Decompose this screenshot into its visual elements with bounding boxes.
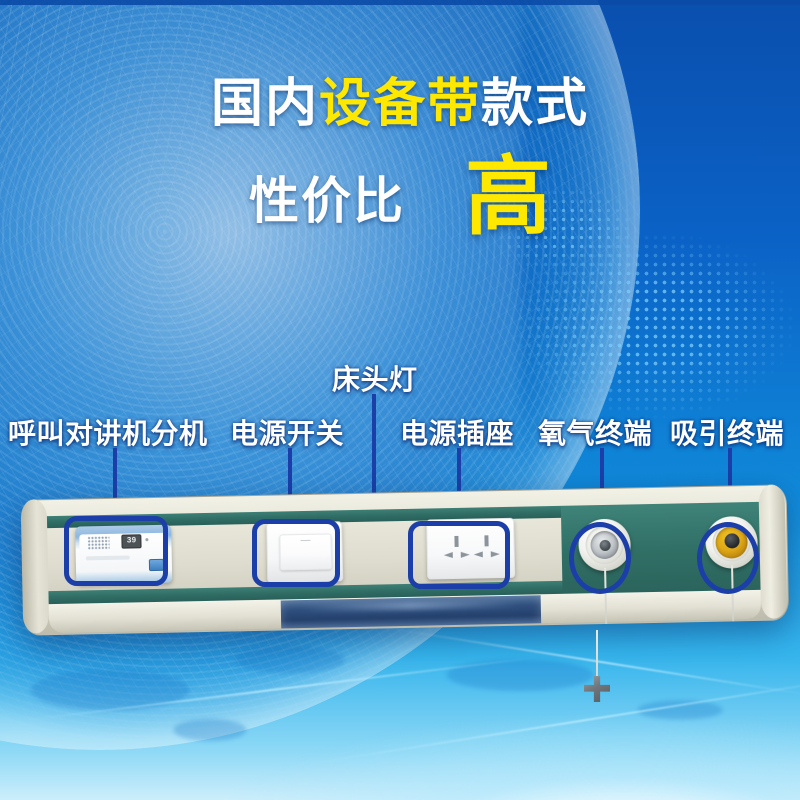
highlight-socket (408, 521, 510, 589)
panel-end-cap-right (758, 484, 787, 618)
callout-label-oxygen: 氧气终端 (538, 412, 652, 452)
headline-line-1: 国内设备带款式 (0, 78, 800, 130)
callout-label-switch: 电源开关 (230, 412, 344, 452)
headline-big-word: 高 (465, 156, 551, 239)
headline-part-1: 国内 (211, 75, 319, 133)
poster-canvas: 国内设备带款式 性价比 高 呼叫对讲机分机 电源开关 床头灯 电源插座 氧气终端… (0, 0, 800, 800)
headline-line-2: 性价比 高 (0, 156, 800, 239)
top-edge-bar (0, 0, 800, 5)
headline-highlight: 设备带 (319, 75, 481, 133)
headline-part-2: 款式 (481, 75, 589, 133)
highlight-oxygen (569, 522, 631, 594)
bed-lamp[interactable] (281, 595, 542, 628)
callout-label-bedlamp: 床头灯 (332, 358, 418, 398)
headline-subtitle: 性价比 (249, 161, 405, 233)
callout-label-intercom: 呼叫对讲机分机 (8, 412, 208, 452)
callout-label-socket: 电源插座 (400, 412, 514, 452)
highlight-intercom (64, 516, 168, 586)
highlight-suction (697, 522, 759, 594)
callout-label-suction: 吸引终端 (670, 412, 784, 452)
highlight-switch (252, 519, 340, 587)
panel-end-cap-left (21, 499, 50, 633)
bottom-light-sweep (0, 640, 800, 800)
headline-block: 国内设备带款式 性价比 高 (0, 78, 800, 239)
